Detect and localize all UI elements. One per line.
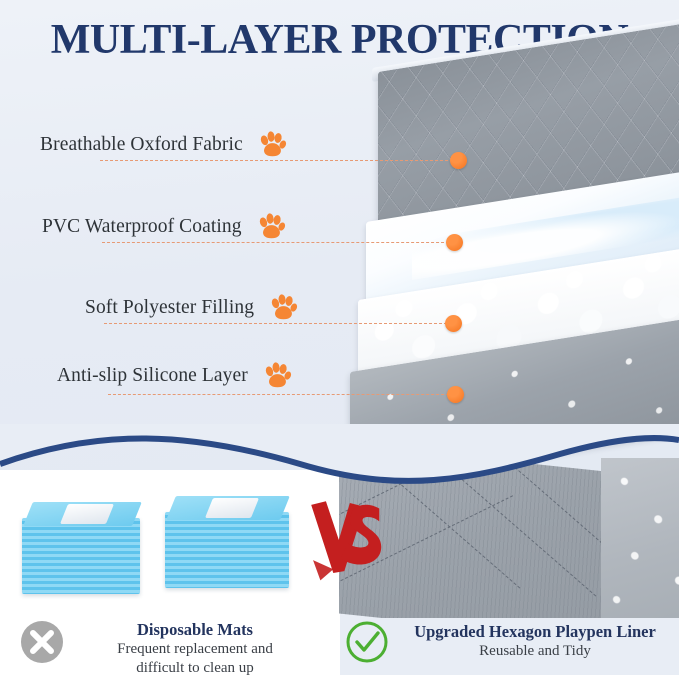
pad-stack-label [60,504,114,524]
paw-print-icon [268,293,298,323]
connector-dot-2 [446,234,463,251]
check-mark-icon [345,620,389,664]
playpen-liner-caption: Upgraded Hexagon Playpen Liner Reusable … [395,622,675,661]
paw-print-icon [256,212,286,242]
disposable-mats-caption: Disposable Mats Frequent replacement and… [70,620,320,675]
multi-layer-section: MULTI-LAYER PROTECTION Breathable Oxford… [0,0,679,480]
layer-callout-oxford: Breathable Oxford Fabric [40,130,287,160]
connector-line-4 [108,394,454,395]
layer-label-oxford: Breathable Oxford Fabric [40,134,243,156]
x-mark-icon [20,620,64,664]
layer-label-filling: Soft Polyester Filling [85,297,254,319]
disposable-pad-stack [165,496,289,596]
connector-dot-3 [445,315,462,332]
infographic-canvas: MULTI-LAYER PROTECTION Breathable Oxford… [0,0,679,675]
connector-line-1 [100,160,458,161]
disposable-mats-subtitle-line1: Frequent replacement and [70,640,320,659]
layer-callout-pvc: PVC Waterproof Coating [42,212,286,242]
layer-callout-filling: Soft Polyester Filling [85,293,298,323]
disposable-pad-stack [22,502,140,597]
connector-line-2 [102,242,454,243]
layer-label-silicone: Anti-slip Silicone Layer [57,365,248,387]
versus-mark [302,492,394,584]
layer-label-pvc: PVC Waterproof Coating [42,216,242,238]
layer-illustration [352,72,679,432]
pad-stack-body [165,512,289,588]
disposable-mats-title: Disposable Mats [70,620,320,640]
paw-print-icon [257,130,287,160]
playpen-liner-subtitle: Reusable and Tidy [395,642,675,661]
connector-dot-4 [447,386,464,403]
playpen-liner-title: Upgraded Hexagon Playpen Liner [395,622,675,642]
disposable-mats-subtitle-line2: difficult to clean up [70,659,320,675]
pad-stack-body [22,518,140,594]
connector-line-3 [104,323,452,324]
paw-print-icon [262,361,292,391]
layer-callout-silicone: Anti-slip Silicone Layer [57,361,292,391]
connector-dot-1 [450,152,467,169]
